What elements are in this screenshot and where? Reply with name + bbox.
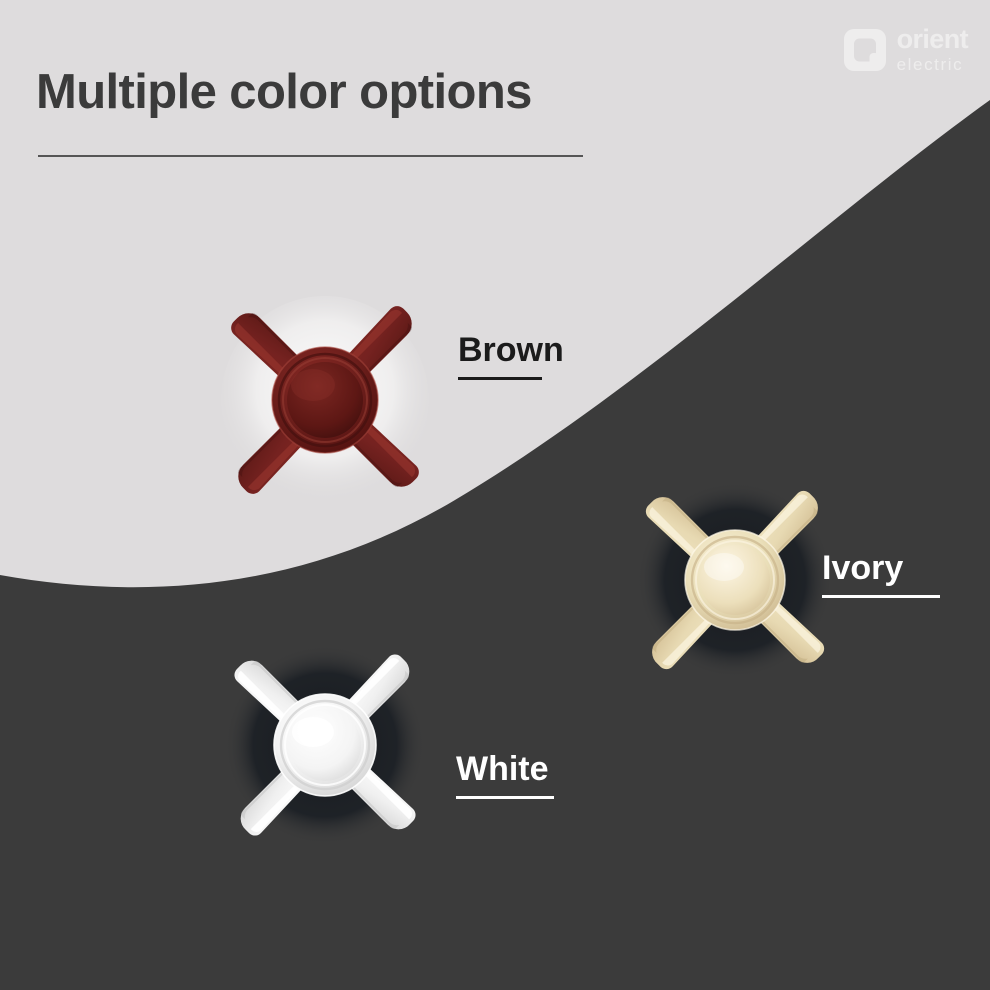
label-ivory-underline xyxy=(822,595,940,598)
fan-product-brown[interactable] xyxy=(150,225,500,575)
label-white: White xyxy=(456,752,554,799)
fan-hub xyxy=(685,530,785,630)
label-brown: Brown xyxy=(458,333,564,380)
fan-hub xyxy=(272,347,378,453)
brand-name-secondary: electric xyxy=(897,56,968,73)
page-title: Multiple color options xyxy=(36,64,532,120)
brand-wordmark: orient electric xyxy=(897,26,968,73)
brand-name-primary: orient xyxy=(897,26,968,53)
title-underline xyxy=(38,155,583,157)
poster-canvas: Multiple color options orient electric xyxy=(0,0,990,990)
brand-logo: orient electric xyxy=(844,26,968,73)
orient-q-mark-icon xyxy=(844,29,886,71)
fan-product-white[interactable] xyxy=(155,575,495,915)
label-ivory: Ivory xyxy=(822,551,940,598)
label-brown-underline xyxy=(458,377,542,380)
label-white-underline xyxy=(456,796,554,799)
label-ivory-text: Ivory xyxy=(822,551,940,585)
label-white-text: White xyxy=(456,752,554,786)
label-brown-text: Brown xyxy=(458,333,564,367)
fan-hub xyxy=(274,694,376,796)
